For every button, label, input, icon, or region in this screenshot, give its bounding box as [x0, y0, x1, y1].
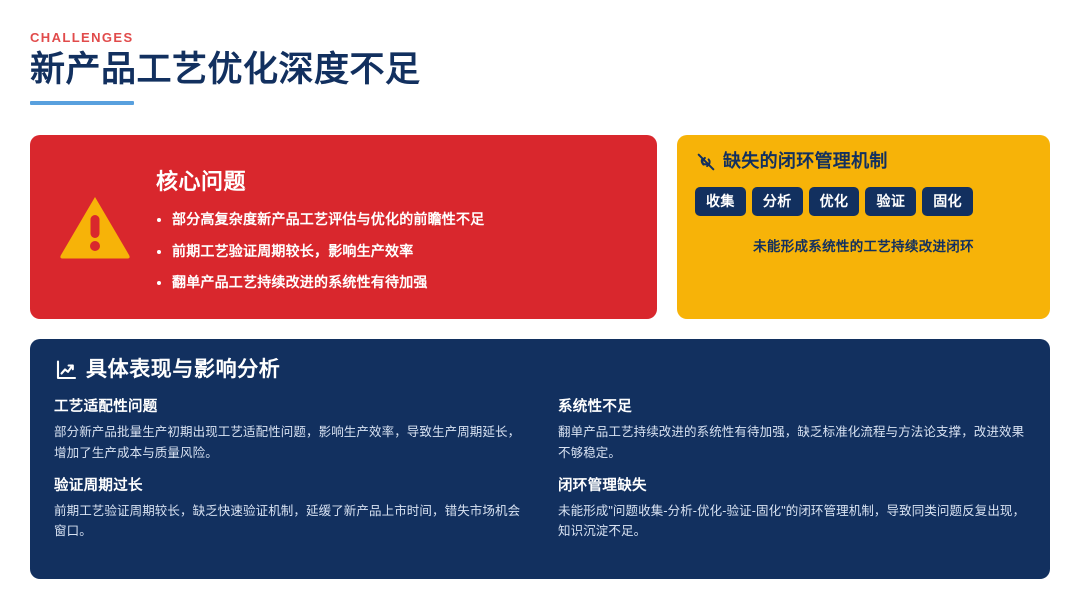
core-problem-body: 核心问题 部分高复杂度新产品工艺评估与优化的前瞻性不足 前期工艺验证周期较长，影… — [156, 162, 635, 293]
eyebrow-label: CHALLENGES — [30, 30, 730, 46]
analysis-panel-title: 具体表现与影响分析 — [86, 357, 280, 382]
analysis-block-closed-loop: 闭环管理缺失 未能形成"问题收集-分析-优化-验证-固化"的闭环管理机制，导致同… — [558, 477, 1026, 542]
line-chart-icon — [54, 358, 78, 382]
block-title: 验证周期过长 — [54, 477, 522, 495]
chip-verify[interactable]: 验证 — [865, 187, 916, 216]
chip-solidify[interactable]: 固化 — [922, 187, 973, 216]
cards-row: 核心问题 部分高复杂度新产品工艺评估与优化的前瞻性不足 前期工艺验证周期较长，影… — [30, 135, 1050, 319]
list-item: 翻单产品工艺持续改进的系统性有待加强 — [156, 273, 635, 292]
block-title: 工艺适配性问题 — [54, 398, 522, 416]
analysis-panel-header: 具体表现与影响分析 — [54, 357, 1026, 382]
chip-collect[interactable]: 收集 — [695, 187, 746, 216]
analysis-block-process-fit: 工艺适配性问题 部分新产品批量生产初期出现工艺适配性问题，影响生产效率，导致生产… — [54, 398, 522, 463]
block-title: 系统性不足 — [558, 398, 1026, 416]
warning-triangle-icon — [56, 191, 134, 263]
page-title: 新产品工艺优化深度不足 — [30, 48, 730, 92]
block-text: 部分新产品批量生产初期出现工艺适配性问题，影响生产效率，导致生产周期延长，增加了… — [54, 422, 522, 463]
closed-loop-card: 缺失的闭环管理机制 收集 分析 优化 验证 固化 未能形成系统性的工艺持续改进闭… — [677, 135, 1050, 319]
slide-root: CHALLENGES 新产品工艺优化深度不足 核心问题 部分高复杂度新产品工艺评… — [0, 0, 1080, 608]
analysis-block-systematics: 系统性不足 翻单产品工艺持续改进的系统性有待加强，缺乏标准化流程与方法论支撑，改… — [558, 398, 1026, 463]
analysis-panel: 具体表现与影响分析 工艺适配性问题 部分新产品批量生产初期出现工艺适配性问题，影… — [30, 339, 1050, 579]
closed-loop-header: 缺失的闭环管理机制 — [695, 151, 1032, 173]
block-text: 翻单产品工艺持续改进的系统性有待加强，缺乏标准化流程与方法论支撑，改进效果不够稳… — [558, 422, 1026, 463]
accent-bar — [30, 101, 134, 105]
core-problem-list: 部分高复杂度新产品工艺评估与优化的前瞻性不足 前期工艺验证周期较长，影响生产效率… — [156, 210, 635, 293]
closed-loop-chip-row: 收集 分析 优化 验证 固化 — [695, 187, 1032, 216]
chip-optimize[interactable]: 优化 — [809, 187, 860, 216]
list-item: 部分高复杂度新产品工艺评估与优化的前瞻性不足 — [156, 210, 635, 229]
broken-link-icon — [695, 151, 717, 173]
block-title: 闭环管理缺失 — [558, 477, 1026, 495]
block-text: 前期工艺验证周期较长，缺乏快速验证机制，延缓了新产品上市时间，错失市场机会窗口。 — [54, 501, 522, 542]
core-problem-title: 核心问题 — [156, 164, 635, 196]
closed-loop-note: 未能形成系统性的工艺持续改进闭环 — [695, 238, 1032, 256]
core-problem-card: 核心问题 部分高复杂度新产品工艺评估与优化的前瞻性不足 前期工艺验证周期较长，影… — [30, 135, 657, 319]
closed-loop-title: 缺失的闭环管理机制 — [723, 151, 888, 173]
analysis-grid: 工艺适配性问题 部分新产品批量生产初期出现工艺适配性问题，影响生产效率，导致生产… — [54, 398, 1026, 541]
list-item: 前期工艺验证周期较长，影响生产效率 — [156, 242, 635, 261]
block-text: 未能形成"问题收集-分析-优化-验证-固化"的闭环管理机制，导致同类问题反复出现… — [558, 501, 1026, 542]
chip-analyze[interactable]: 分析 — [752, 187, 803, 216]
slide-header: CHALLENGES 新产品工艺优化深度不足 — [30, 30, 730, 105]
analysis-block-validation-cycle: 验证周期过长 前期工艺验证周期较长，缺乏快速验证机制，延缓了新产品上市时间，错失… — [54, 477, 522, 542]
